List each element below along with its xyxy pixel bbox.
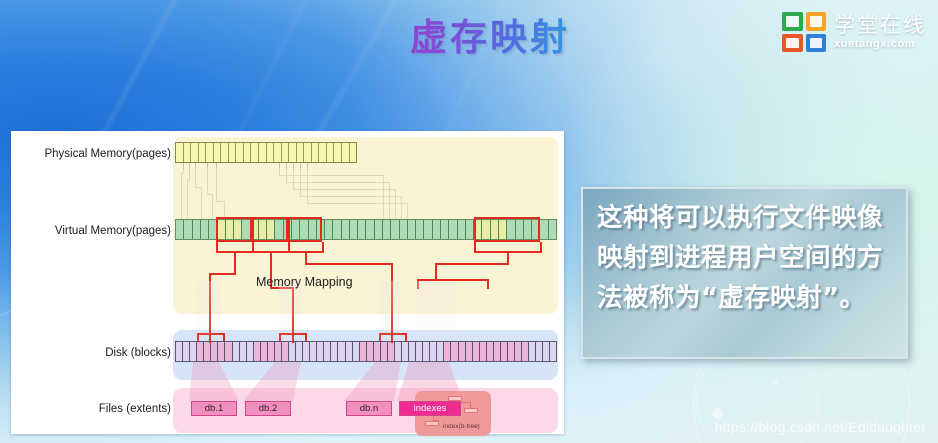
memory-cell [334, 143, 342, 162]
memory-cell [550, 342, 556, 361]
virtual-memory-selection [474, 217, 540, 242]
mapping-connector [288, 242, 290, 251]
memory-cell [444, 342, 451, 361]
physical-memory-bar [175, 142, 357, 163]
mapping-connector [305, 333, 307, 341]
mapping-connector [292, 341, 294, 343]
memory-cell [184, 143, 192, 162]
memory-cell [430, 342, 437, 361]
memory-cell [350, 220, 358, 239]
row-label-virtual-memory: Virtual Memory(pages) [19, 225, 171, 237]
memory-cell [310, 342, 317, 361]
page-mapping-line [293, 169, 294, 189]
memory-cell [408, 220, 416, 239]
btree-label: index(b-tree) [443, 423, 480, 430]
mapping-connector [435, 263, 437, 279]
mapping-connector [540, 242, 542, 251]
page-mapping-line [279, 175, 384, 176]
logo-square-orange [806, 12, 827, 31]
memory-cell [303, 342, 310, 361]
memory-cell [233, 342, 240, 361]
page-mapping-line [286, 182, 390, 183]
memory-cell [236, 143, 244, 162]
memory-cell [338, 342, 345, 361]
memory-cell [374, 342, 381, 361]
page-mapping-line [307, 203, 408, 204]
page-mapping-line [286, 169, 287, 182]
mapping-connector [305, 263, 391, 265]
memory-cell [540, 220, 548, 239]
memory-cell [402, 342, 409, 361]
mapping-connector [223, 333, 225, 341]
memory-cell [204, 342, 211, 361]
memory-cell [522, 342, 529, 361]
page-mapping-line [300, 169, 301, 196]
memory-cell [473, 342, 480, 361]
callout-text: 这种将可以执行文件映像映射到进程用户空间的方法被称为“虚存映射”。 [597, 198, 894, 318]
memory-cell [342, 220, 350, 239]
file-extent-indexes[interactable]: indexes [399, 401, 461, 416]
row-label-disk: Disk (blocks) [19, 347, 171, 359]
memory-cell [197, 342, 204, 361]
diagram-panel: Physical Memory(pages) Virtual Memory(pa… [11, 131, 564, 434]
mapping-connector [487, 279, 489, 289]
virtual-memory-selection [252, 217, 288, 242]
memory-cell [229, 143, 237, 162]
memory-cell [289, 342, 296, 361]
memory-cell [254, 342, 261, 361]
mapping-connector [435, 263, 509, 265]
memory-cell [312, 143, 320, 162]
memory-cell [275, 342, 282, 361]
memory-cell [333, 220, 341, 239]
mapping-connector [507, 251, 509, 263]
memory-cell [327, 143, 335, 162]
memory-cell [459, 342, 466, 361]
page-mapping-line [187, 180, 188, 219]
page-mapping-line [407, 203, 408, 219]
mapping-connector [474, 242, 476, 251]
disk-blocks-bar [175, 341, 557, 362]
file-extent-db-n[interactable]: db.n [346, 401, 392, 416]
memory-cell [508, 342, 515, 361]
memory-cell [381, 342, 388, 361]
memory-cell [267, 143, 275, 162]
page-mapping-line [300, 196, 402, 197]
memory-cell [176, 143, 184, 162]
mapping-connector [391, 341, 393, 343]
memory-cell [193, 220, 201, 239]
watermark: https://blog.csdn.net/Edidaughter [715, 419, 926, 435]
memory-cell [536, 342, 543, 361]
slide-canvas: 虚存映射 虚存映射 学堂在线 xuetangx.com Physical Mem… [0, 0, 938, 443]
memory-cell [247, 342, 254, 361]
memory-cell [259, 143, 267, 162]
page-mapping-line [181, 173, 182, 219]
page-mapping-line [293, 189, 396, 190]
memory-cell [458, 220, 466, 239]
logo-squares-icon [782, 12, 826, 52]
memory-cell [268, 342, 275, 361]
logo-text: 学堂在线 xuetangx.com [834, 15, 926, 50]
memory-cell [494, 342, 501, 361]
memory-cell [487, 342, 494, 361]
memory-cell [261, 342, 268, 361]
memory-cell [416, 342, 423, 361]
memory-cell [251, 143, 259, 162]
memory-cell [515, 342, 522, 361]
memory-cell [350, 143, 357, 162]
page-mapping-line [307, 169, 308, 203]
memory-cell [342, 143, 350, 162]
memory-cell [366, 220, 374, 239]
row-label-files: Files (extents) [19, 403, 171, 415]
file-extent-db-1[interactable]: db.1 [191, 401, 237, 416]
memory-cell [184, 220, 192, 239]
memory-cell [437, 342, 444, 361]
mapping-connector [216, 242, 218, 251]
memory-cell [358, 220, 366, 239]
memory-cell [424, 220, 432, 239]
memory-cell [400, 220, 408, 239]
memory-cell [466, 342, 473, 361]
memory-cell [206, 143, 214, 162]
vertical-trail [415, 281, 455, 341]
memory-cell [319, 143, 327, 162]
memory-cell [176, 220, 184, 239]
memory-cell [317, 342, 324, 361]
memory-cell [501, 342, 508, 361]
memory-mapping-label: Memory Mapping [256, 275, 353, 289]
memory-cell [423, 342, 430, 361]
page-mapping-line [195, 169, 196, 187]
memory-cell [449, 220, 457, 239]
memory-cell [441, 220, 449, 239]
page-mapping-line [389, 182, 390, 219]
memory-cell [240, 342, 247, 361]
callout-box: 这种将可以执行文件映像映射到进程用户空间的方法被称为“虚存映射”。 [581, 187, 908, 359]
mapping-connector [322, 242, 324, 251]
brand-logo: 学堂在线 xuetangx.com [782, 8, 926, 56]
memory-cell [375, 220, 383, 239]
memory-cell [289, 143, 297, 162]
memory-cell [221, 143, 229, 162]
mapping-connector [252, 242, 254, 251]
memory-cell [214, 143, 222, 162]
memory-cell [325, 220, 333, 239]
vertical-trail [379, 281, 401, 341]
memory-cell [529, 342, 536, 361]
memory-cell [296, 342, 303, 361]
memory-cell [244, 143, 252, 162]
memory-cell [409, 342, 416, 361]
page-mapping-line [395, 189, 396, 219]
memory-cell [183, 342, 190, 361]
memory-cell [304, 143, 312, 162]
memory-cell [199, 143, 207, 162]
virtual-memory-selection [288, 217, 322, 242]
logo-square-green [782, 12, 803, 31]
memory-cell [433, 220, 441, 239]
memory-cell [353, 342, 360, 361]
mapping-connector [209, 273, 236, 275]
memory-cell [176, 342, 183, 361]
memory-cell [282, 342, 289, 361]
virtual-memory-selection [216, 217, 252, 242]
mapping-connector [405, 333, 407, 341]
memory-cell [383, 220, 391, 239]
file-extent-db-2[interactable]: db.2 [245, 401, 291, 416]
memory-cell [367, 342, 374, 361]
memory-cell [346, 342, 353, 361]
slide-title: 虚存映射 [340, 12, 640, 64]
btree-node-leaf [425, 421, 439, 426]
page-mapping-line [207, 169, 208, 194]
memory-cell [480, 342, 487, 361]
mapping-connector [234, 251, 236, 273]
memory-cell [391, 220, 399, 239]
vertical-trail [279, 281, 301, 341]
background-dot [772, 379, 778, 385]
btree-node [464, 408, 478, 413]
memory-cell [201, 220, 209, 239]
memory-cell [297, 143, 305, 162]
logo-name-en: xuetangx.com [834, 39, 926, 50]
vertical-trail [197, 281, 219, 341]
memory-cell [282, 143, 290, 162]
memory-cell [331, 342, 338, 361]
memory-cell [225, 342, 232, 361]
memory-cell [190, 342, 197, 361]
page-mapping-line [216, 169, 217, 201]
page-mapping-line [189, 169, 190, 180]
memory-cell [191, 143, 199, 162]
memory-cell [388, 342, 395, 361]
page-mapping-line [212, 194, 213, 219]
page-mapping-line [401, 196, 402, 219]
memory-cell [211, 342, 218, 361]
memory-cell [451, 342, 458, 361]
memory-cell [395, 342, 402, 361]
memory-cell [549, 220, 556, 239]
row-label-physical-memory: Physical Memory(pages) [19, 148, 171, 160]
background-dot [712, 408, 723, 419]
logo-square-blue [806, 34, 827, 53]
memory-cell [543, 342, 550, 361]
memory-cell [466, 220, 474, 239]
memory-cell [360, 342, 367, 361]
page-mapping-line [201, 187, 202, 219]
memory-cell [218, 342, 225, 361]
memory-cell [416, 220, 424, 239]
logo-square-red [782, 34, 803, 53]
memory-cell [324, 342, 331, 361]
mapping-connector [209, 341, 211, 343]
memory-cell [274, 143, 282, 162]
logo-name-cn: 学堂在线 [834, 15, 926, 36]
mapping-connector [305, 251, 307, 263]
